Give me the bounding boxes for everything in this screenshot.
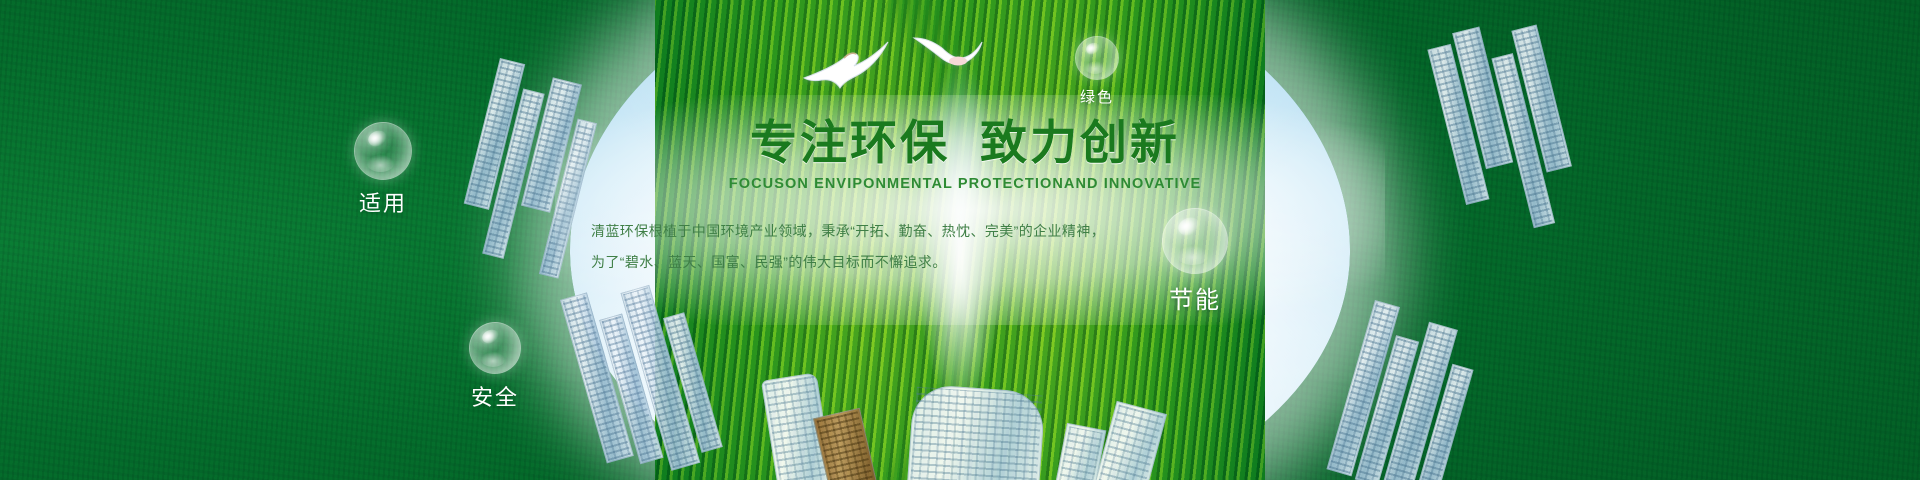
bird-icon — [800, 38, 892, 96]
feature-bubble-shiyong: 适用 — [318, 122, 448, 218]
cityscape-center — [760, 340, 1180, 480]
headline-part-1: 专注环保 — [750, 118, 950, 167]
page-title: 专注环保 致力创新 — [585, 118, 1345, 167]
feature-bubble-lvse: 绿色 — [1032, 36, 1162, 107]
subheadline: FOCUSON ENVIPONMENTAL PROTECTIONAND INNO… — [585, 176, 1345, 192]
bubble-icon — [469, 322, 521, 374]
bird-icon — [912, 28, 984, 78]
feature-bubble-anquan: 安全 — [430, 322, 560, 412]
bubble-icon — [1162, 208, 1228, 274]
bubble-label: 绿色 — [1032, 86, 1162, 107]
feature-bubble-jieneng: 节能 — [1120, 208, 1270, 315]
environmental-hero-banner: 专注环保 致力创新 FOCUSON ENVIPONMENTAL PROTECTI… — [0, 0, 1920, 480]
bubble-label: 安全 — [430, 380, 560, 412]
bubble-icon — [354, 122, 412, 180]
bubble-label: 节能 — [1120, 280, 1270, 315]
headline-part-2: 致力创新 — [980, 118, 1180, 167]
bubble-icon — [1075, 36, 1119, 80]
bubble-label: 适用 — [318, 186, 448, 218]
